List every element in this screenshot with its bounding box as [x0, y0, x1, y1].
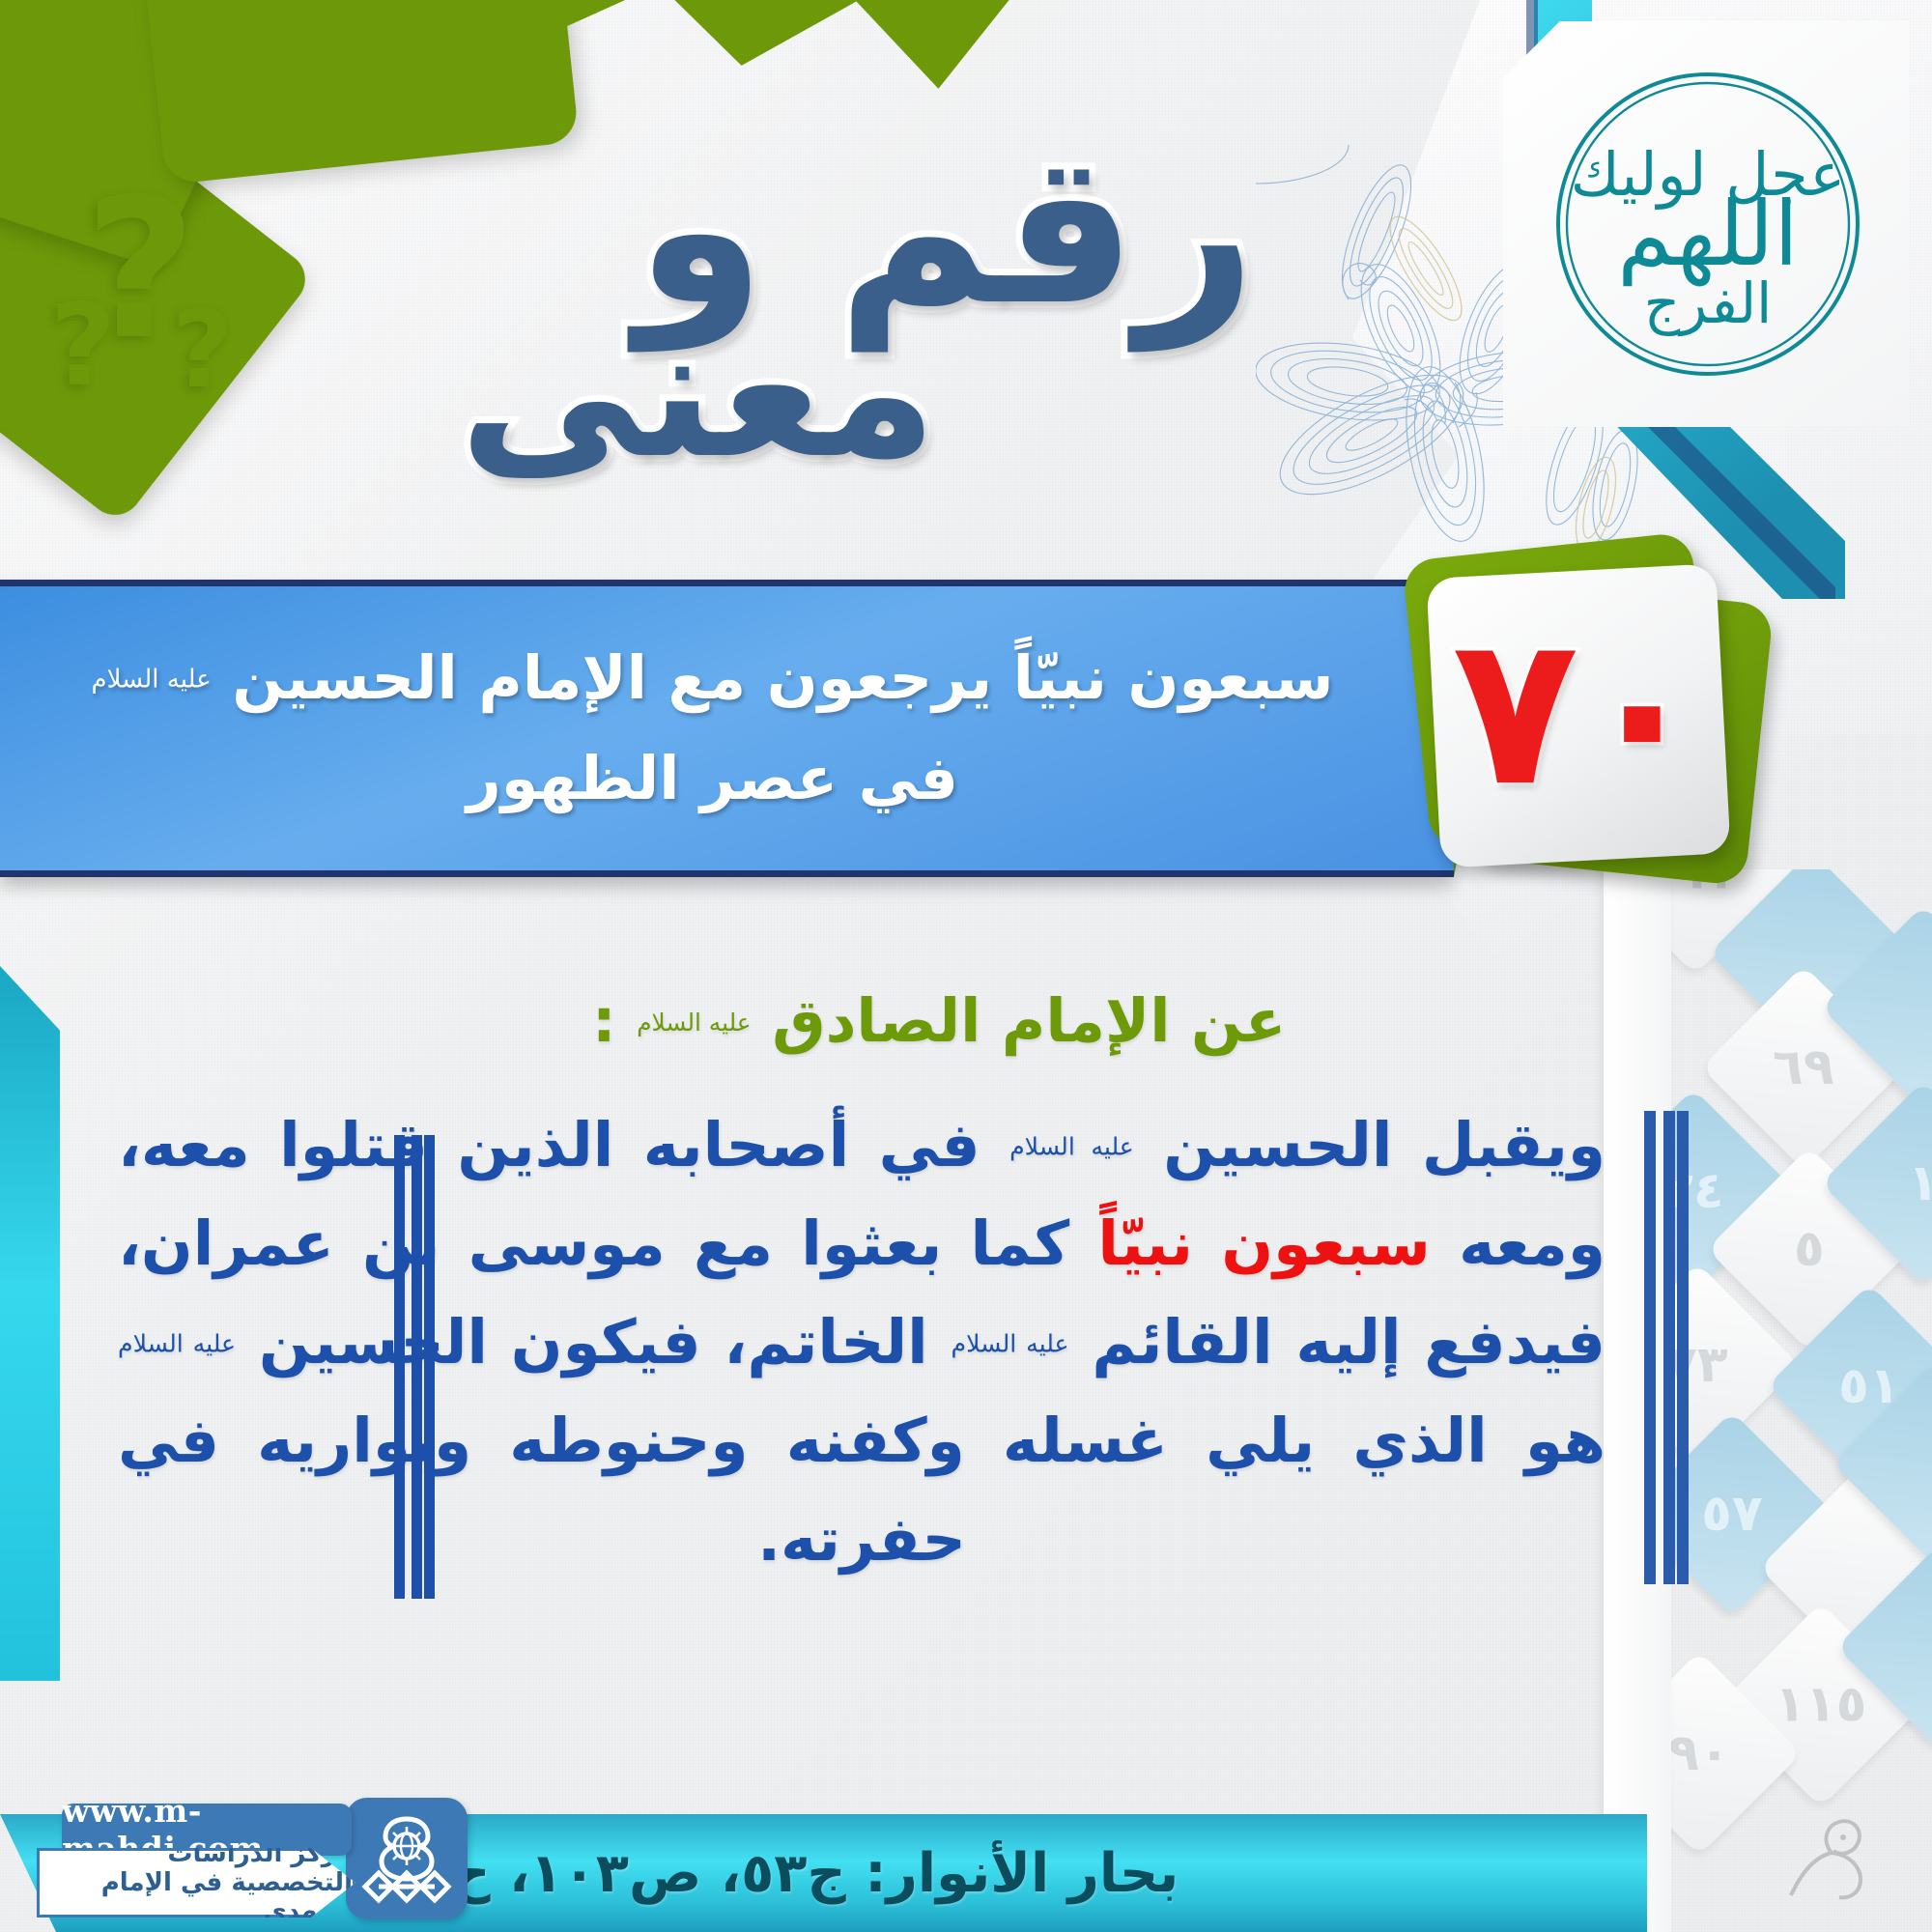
honorific-icon: عليه السلام: [1009, 1133, 1134, 1161]
narrator-colon: :: [592, 985, 616, 1056]
site-logo[interactable]: www.m-mahdi.com مركز الدراسات التخصصية ف…: [14, 1795, 468, 1922]
headline-text-1: سبعون نبيّاً يرجعون مع الإمام الحسين: [232, 642, 1333, 713]
hadith-text: ويقبل الحسين عليه السلام في أصحابه الذين…: [60, 1096, 1644, 1589]
hadith-segment: الخاتم، فيكون الحسين: [259, 1307, 928, 1378]
source-citation-text: بحار الأنوار: ج٥٣، ص١٠٣، ح١٣٠: [353, 1842, 1179, 1905]
tile-number: ٥: [1794, 1220, 1825, 1278]
content-panel: عن الإمام الصادق عليه السلام : ويقبل الح…: [60, 985, 1644, 1768]
number-badge: ٧٠: [1410, 546, 1758, 903]
tile-number: ٧٣: [1666, 1336, 1727, 1394]
headline-banner: سبعون نبيّاً يرجعون مع الإمام الحسين علي…: [0, 580, 1454, 877]
hadith-segment: هو الذي يلي غسله وكفنه وحنوطه ويواريه في…: [118, 1406, 1605, 1575]
logo-globe-icon: [346, 1798, 468, 1919]
hadith-segment: ويقبل الحسين: [1163, 1110, 1605, 1180]
left-accent-strip: [0, 966, 60, 1681]
headline-line-2: في عصر الظهور: [39, 736, 1386, 821]
badge-white-card: ٧٠: [1426, 563, 1730, 867]
tile-number: ٥٧: [1701, 1485, 1762, 1543]
poster-title: رقم و معنى: [116, 126, 1256, 473]
question-mark-icon: ؟: [50, 299, 116, 390]
hadith-highlight: سبعون نبيّاً: [1097, 1208, 1430, 1279]
honorific-icon: عليه السلام: [91, 665, 211, 694]
poster-root: ؟ ؟ ؟: [0, 0, 1932, 1932]
narrator-line: عن الإمام الصادق عليه السلام :: [60, 985, 1644, 1056]
seal-emblem: اللهم عجل لوليك الفرج: [1503, 21, 1909, 427]
headline-line-1: سبعون نبيّاً يرجعون مع الإمام الحسين علي…: [39, 636, 1386, 721]
narrator-label: عن الإمام الصادق: [772, 985, 1286, 1056]
corner-calligraphy-icon: [1772, 1803, 1888, 1918]
organization-name: مركز الدراسات التخصصية في الإمام المهدي: [37, 1848, 355, 1918]
tile-number: ٩٠: [1668, 1724, 1729, 1782]
honorific-icon: عليه السلام: [952, 1330, 1069, 1358]
badge-number: ٧٠: [1452, 606, 1705, 813]
logo-text-block: www.m-mahdi.com مركز الدراسات التخصصية ف…: [27, 1798, 355, 1919]
website-url[interactable]: www.m-mahdi.com: [62, 1804, 352, 1856]
honorific-icon: عليه السلام: [637, 1009, 751, 1037]
svg-text:الفرج: الفرج: [1644, 270, 1773, 337]
tile-number: ٦٩: [1773, 1038, 1833, 1096]
tile-number: ١: [1908, 1154, 1932, 1212]
svg-text:عجل لوليك: عجل لوليك: [1571, 139, 1845, 210]
tile-number: ١١٥: [1775, 1676, 1866, 1734]
honorific-icon: عليه السلام: [118, 1330, 236, 1358]
